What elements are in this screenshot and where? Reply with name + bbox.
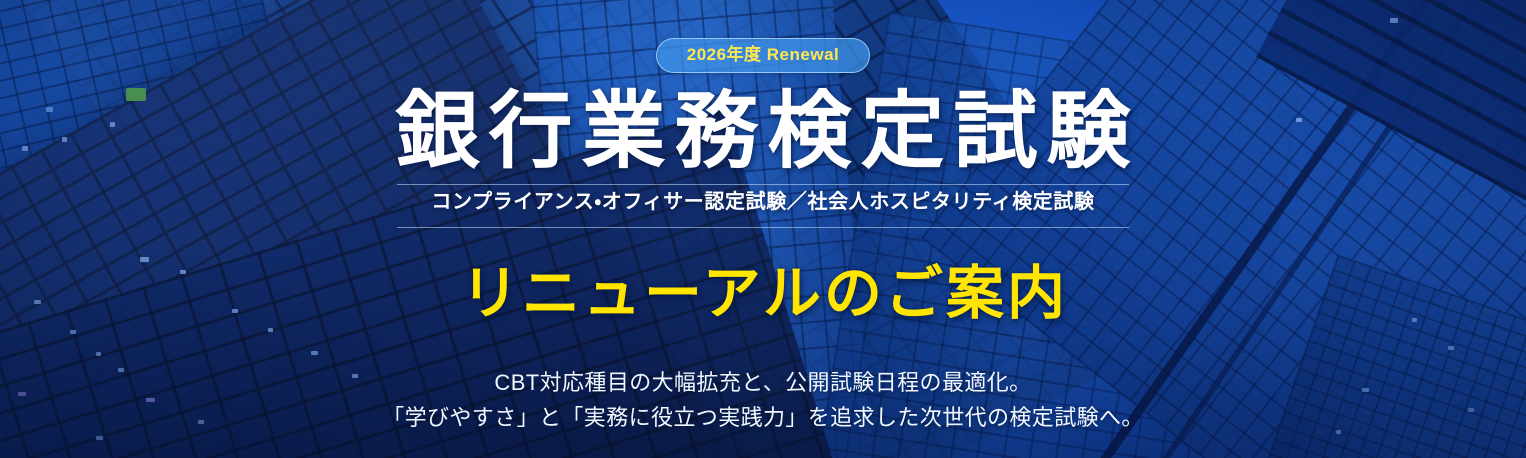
hero-description-line-2: 「学びやすさ」と「実務に役立つ実践力」を追求した次世代の検定試験へ。	[382, 401, 1144, 436]
renewal-year-badge: 2026年度 Renewal	[656, 38, 871, 73]
hero-description-line-1: CBT対応種目の大幅拡充と、公開試験日程の最適化。	[382, 366, 1144, 401]
title-divider-bottom	[397, 227, 1129, 228]
hero-banner: 2026年度 Renewal 銀行業務検定試験 コンプライアンス・オフィサー認定…	[0, 0, 1526, 458]
page-title: 銀行業務検定試験	[386, 87, 1139, 176]
page-subtitle: コンプライアンス・オフィサー認定試験／社会人ホスピタリティ検定試験	[431, 191, 1094, 214]
hero-content: 2026年度 Renewal 銀行業務検定試験 コンプライアンス・オフィサー認定…	[0, 0, 1526, 458]
hero-description: CBT対応種目の大幅拡充と、公開試験日程の最適化。 「学びやすさ」と「実務に役立…	[382, 366, 1144, 436]
title-divider-top	[397, 184, 1129, 185]
renewal-headline: リニューアルのご案内	[458, 262, 1068, 326]
